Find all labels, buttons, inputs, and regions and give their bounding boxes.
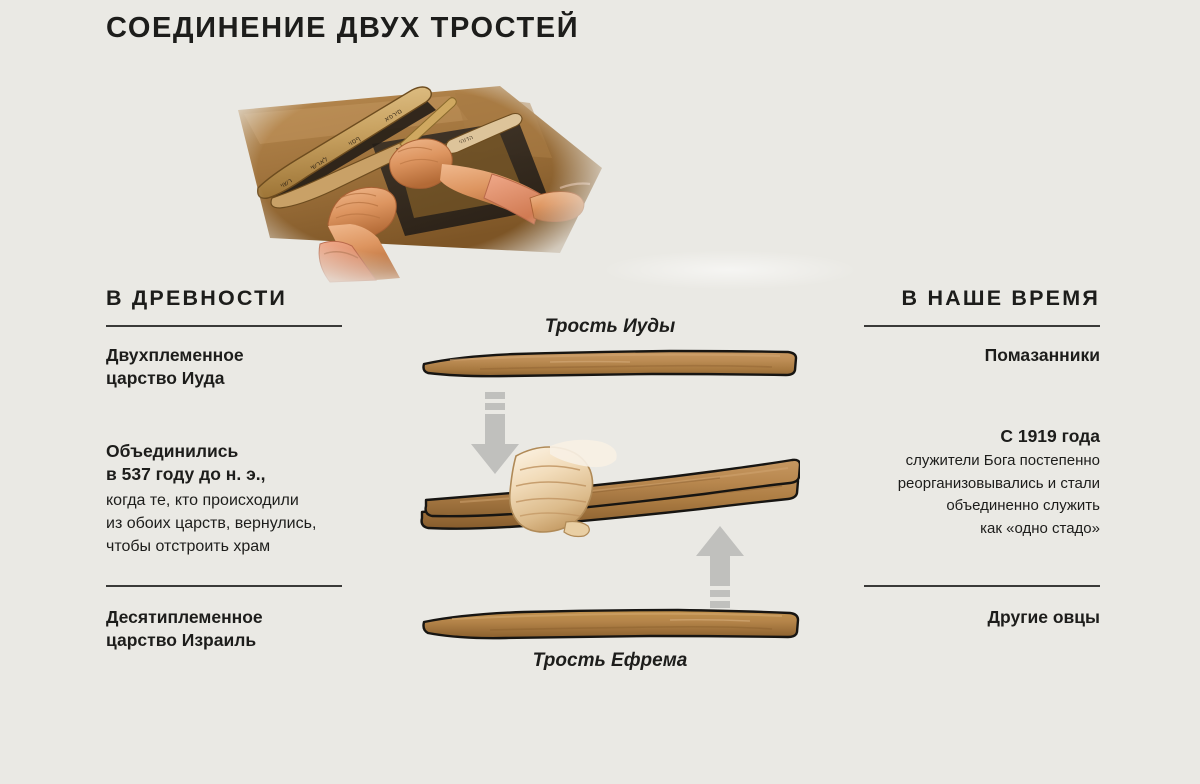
unification-lead: Объединились в 537 году до н. э., (106, 440, 366, 487)
israel-kingdom-text: Десятиплеменное царство Израиль (106, 606, 366, 653)
block-israel-kingdom: Десятиплеменное царство Израиль (106, 606, 366, 653)
arrow-up-icon (680, 518, 760, 610)
staff-judah-graphic (420, 340, 800, 390)
staff-label-ephraim: Трость Ефрема (410, 650, 810, 672)
unification-body: когда те, кто происходили из обоих царст… (106, 489, 366, 559)
infographic-canvas: СОЕДИНЕНИЕ ДВУХ ТРОСТЕЙ (0, 0, 1200, 784)
anointed-text: Помазанники (820, 344, 1100, 367)
judah-kingdom-text: Двухплеменное царство Иуда (106, 344, 366, 391)
staff-label-judah: Трость Иуды (410, 316, 810, 338)
divider-right-bottom (864, 585, 1100, 587)
divider-left-bottom (106, 585, 342, 587)
block-since-1919: С 1919 года служители Бога постепенно ре… (820, 425, 1100, 540)
since-1919-body: служители Бога постепенно реорганизовыва… (820, 450, 1100, 540)
staff-ephraim-graphic (420, 600, 800, 650)
column-heading-modern: В НАШЕ ВРЕМЯ (902, 286, 1100, 311)
since-1919-lead: С 1919 года (820, 425, 1100, 448)
block-anointed: Помазанники (820, 344, 1100, 367)
hands-writing-on-staff-illustration: רשוי לארשי ףסוי םירפא הדוהי (200, 48, 610, 283)
hero-vignette (600, 250, 860, 290)
block-unification: Объединились в 537 году до н. э., когда … (106, 440, 366, 558)
divider-left-top (106, 325, 342, 327)
block-other-sheep: Другие овцы (820, 606, 1100, 629)
other-sheep-text: Другие овцы (820, 606, 1100, 629)
column-heading-ancient: В ДРЕВНОСТИ (106, 286, 287, 311)
divider-right-top (864, 325, 1100, 327)
block-judah-kingdom: Двухплеменное царство Иуда (106, 344, 366, 391)
page-title: СОЕДИНЕНИЕ ДВУХ ТРОСТЕЙ (106, 12, 579, 45)
